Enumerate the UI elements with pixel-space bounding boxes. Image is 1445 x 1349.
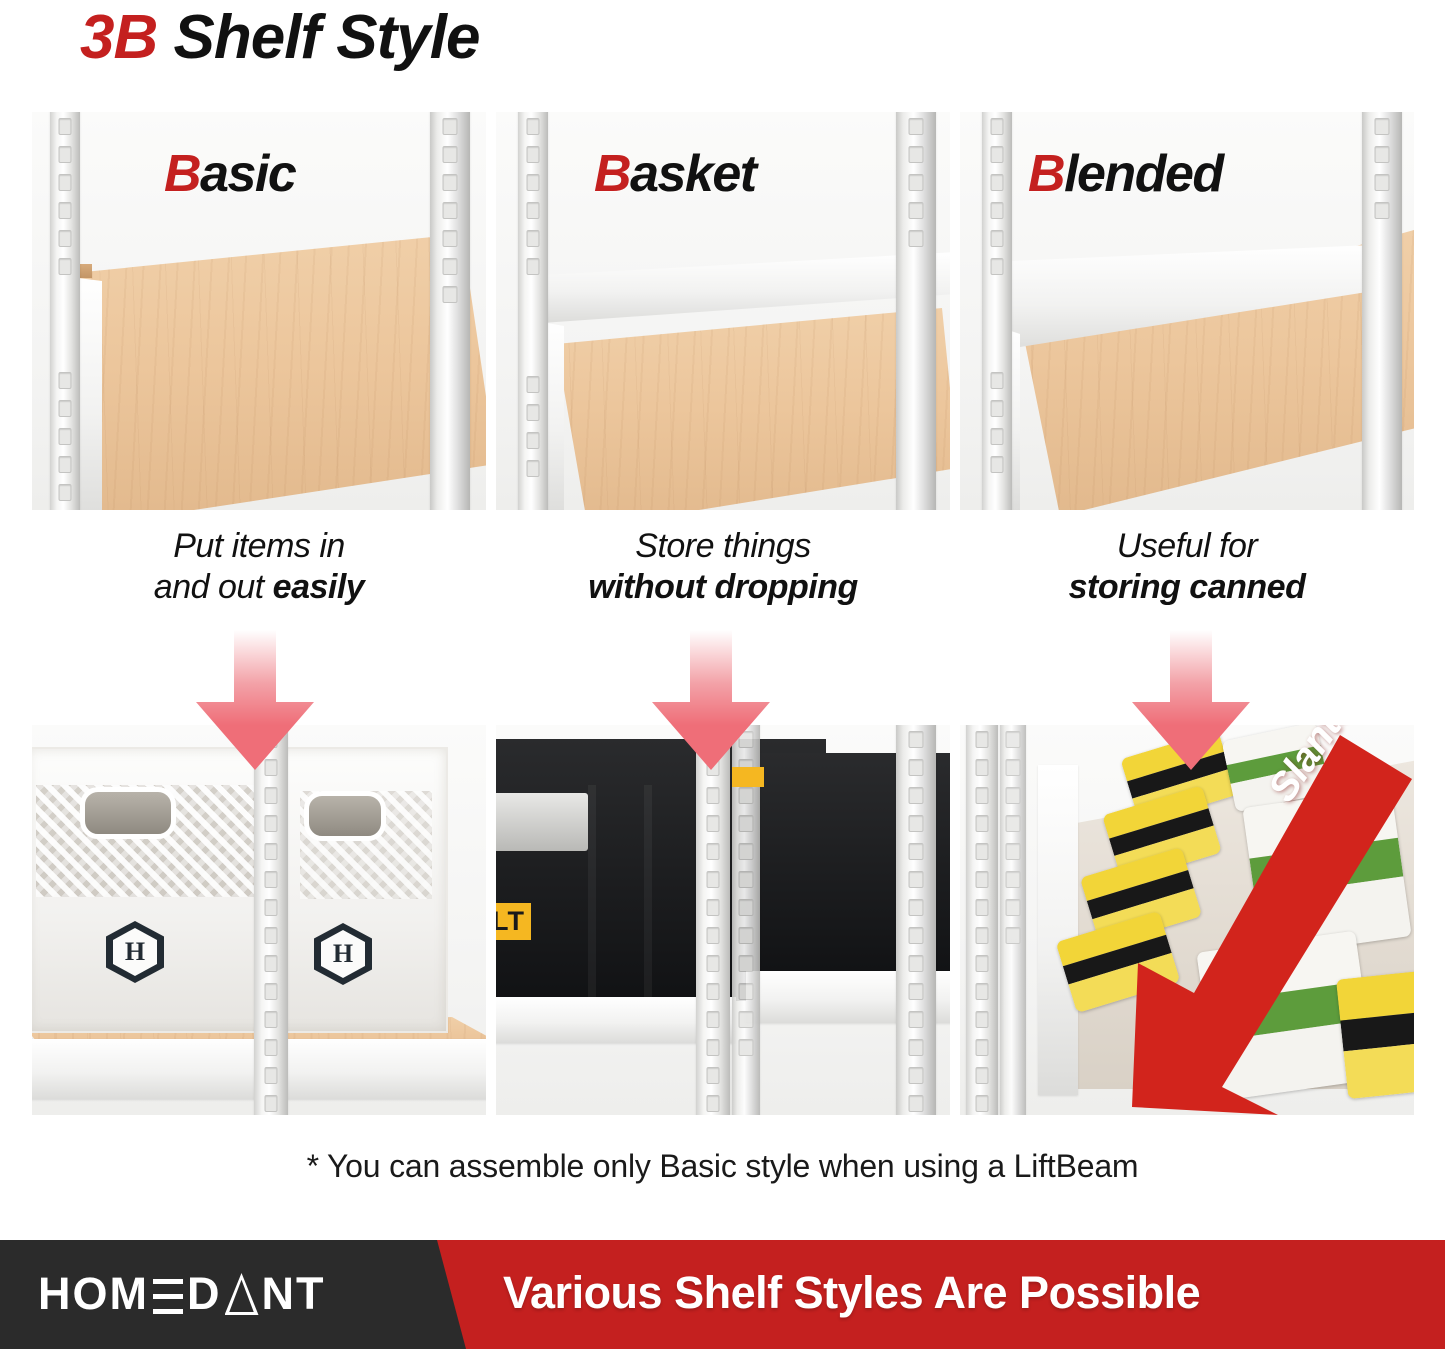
brand-logo: HOM D NT	[38, 1268, 326, 1320]
toolbox-rib	[644, 785, 652, 1001]
brand-logo-part3: NT	[262, 1268, 326, 1320]
shelf-post-front	[254, 725, 288, 1115]
caption-basic: Put items in and out easily	[32, 526, 486, 609]
shelf-post-right	[896, 112, 936, 510]
shelf-side-wall	[1038, 765, 1078, 1095]
toolbox-on-shelf-photo: LT	[496, 725, 950, 1115]
style-label-accent: B	[1028, 145, 1064, 203]
canned-good	[1242, 787, 1411, 956]
style-label-basic: Basic	[164, 144, 295, 204]
crate-logo-letter: H	[113, 928, 157, 976]
style-label-rest: asic	[200, 145, 295, 203]
brand-logo-part2: D	[187, 1268, 222, 1320]
toolbox-brand-badge: LT	[496, 903, 531, 940]
style-label-basket: Basket	[594, 144, 756, 204]
page-title-rest: Shelf Style	[157, 3, 479, 72]
footer-bar: HOM D NT Various Shelf Styles Are Possib…	[0, 1240, 1445, 1349]
style-label-accent: B	[594, 145, 630, 203]
style-label-rest: lended	[1064, 145, 1223, 203]
page-title: 3B Shelf Style	[80, 2, 479, 73]
shelf-post-right	[896, 725, 936, 1115]
toolbox-rib	[588, 785, 596, 1001]
footnote-text: * You can assemble only Basic style when…	[0, 1148, 1445, 1185]
wood-shelf-board	[42, 234, 486, 510]
caption-basket: Store things without dropping	[496, 526, 950, 609]
caption-line-1: Useful for	[1117, 527, 1258, 565]
caption-line-2-bold: without dropping	[588, 568, 858, 606]
crate-handle-front	[80, 787, 176, 839]
footer-tagline: Various Shelf Styles Are Possible	[503, 1267, 1200, 1319]
brand-logo-e-glyph	[153, 1272, 183, 1316]
brand-logo-a-glyph	[225, 1273, 259, 1315]
shelf-post-left	[982, 112, 1012, 510]
result-panel-blended: Slanted	[960, 725, 1414, 1115]
blended-shelf-photo: Blended	[960, 112, 1414, 510]
shelf-post-left	[966, 725, 998, 1115]
style-panel-basket: Basket Store things without dropping	[496, 112, 950, 609]
brand-logo-part1: HOM	[38, 1268, 149, 1320]
caption-line-2-bold: easily	[273, 568, 365, 606]
caption-line-2-bold: storing canned	[1069, 568, 1306, 606]
canned-goods-on-slanted-shelf-photo: Slanted	[960, 725, 1414, 1115]
bottom-photo-row: H H	[32, 725, 1414, 1115]
crate-logo-letter: H	[321, 930, 365, 978]
style-label-accent: B	[164, 145, 200, 203]
shelf-post-left-rear	[1000, 725, 1026, 1115]
shelf-post-right	[430, 112, 470, 510]
style-label-blended: Blended	[1028, 144, 1223, 204]
caption-blended: Useful for storing canned	[960, 526, 1414, 609]
top-photo-row: Basic Put items in and out easily	[32, 112, 1414, 609]
caption-line-1: Put items in	[173, 527, 345, 565]
shelf-post-front	[696, 725, 730, 1115]
shelf-post-left	[518, 112, 548, 510]
crate-handle-side	[304, 791, 386, 841]
shelf-post-right	[1362, 112, 1402, 510]
style-panels: Basic Put items in and out easily	[32, 112, 1414, 1115]
infographic-page: 3B Shelf Style	[0, 0, 1445, 1349]
basket-shelf-photo: Basket	[496, 112, 950, 510]
style-panel-blended: Blended Useful for storing canned	[960, 112, 1414, 609]
result-panel-basic: H H	[32, 725, 486, 1115]
result-panel-basket: LT	[496, 725, 950, 1115]
style-panel-basic: Basic Put items in and out easily	[32, 112, 486, 609]
style-label-rest: asket	[630, 145, 756, 203]
milk-crate-on-shelf-photo: H H	[32, 725, 486, 1115]
caption-line-1: Store things	[635, 527, 810, 565]
basic-shelf-photo: Basic	[32, 112, 486, 510]
toolbox-latch	[732, 767, 764, 787]
toolbox-metal-tray	[496, 793, 588, 851]
page-title-accent: 3B	[80, 3, 157, 72]
canned-good	[1336, 971, 1414, 1099]
shelf-post-left	[50, 112, 80, 510]
caption-line-2-regular: and out	[154, 568, 273, 606]
